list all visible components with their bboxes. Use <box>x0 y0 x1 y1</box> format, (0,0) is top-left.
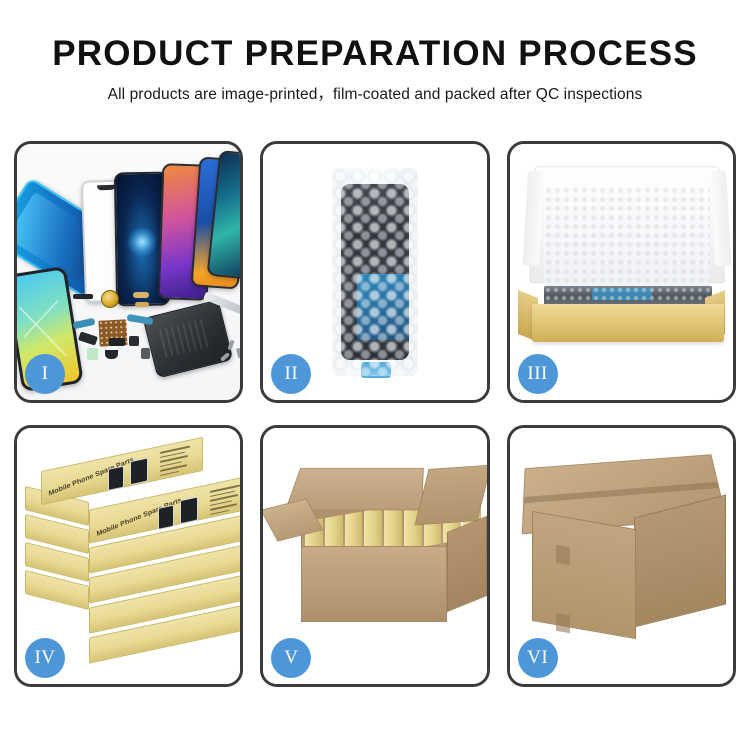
small-component-part <box>109 338 125 346</box>
process-steps-grid: I II <box>14 141 736 687</box>
battery-connector-part <box>87 348 98 360</box>
small-component-part <box>105 350 118 359</box>
carton-flap-right <box>415 465 487 526</box>
box-phone-graphic <box>108 466 124 491</box>
screw-part <box>236 348 240 359</box>
page-subtitle: All products are image-printed，film-coat… <box>0 82 750 104</box>
step-badge-1: I <box>25 354 65 394</box>
step-panel-4: Mobile Phone Spare Parts Mobile Phone Sp… <box>14 425 243 687</box>
carton-tape-mark <box>556 545 570 565</box>
small-component-part <box>141 348 150 359</box>
sealed-carton-right <box>634 495 726 628</box>
box-phone-graphic <box>180 496 198 524</box>
step-panel-1: I <box>14 141 243 403</box>
box-phone-graphic <box>158 505 174 530</box>
flex-cable-part <box>73 294 93 299</box>
step-badge-6: VI <box>518 638 558 678</box>
box-stack: Mobile Phone Spare Parts Mobile Phone Sp… <box>23 454 240 634</box>
carton-tape-mark <box>556 613 570 633</box>
flex-cable-part <box>133 292 149 298</box>
flex-cable-part <box>135 302 149 307</box>
carton-right-side <box>447 516 486 612</box>
product-preparation-infographic: PRODUCT PREPARATION PROCESS All products… <box>0 0 750 750</box>
step-badge-4: IV <box>25 638 65 678</box>
bubble-wrapped-package <box>332 168 418 376</box>
small-component-part <box>78 331 98 345</box>
step-panel-3: III <box>507 141 736 403</box>
speaker-coil-part <box>101 290 119 308</box>
bubble-wrap-texture <box>332 168 418 376</box>
item-blue-label <box>592 288 652 300</box>
box-phone-graphic <box>130 457 148 485</box>
page-title: PRODUCT PREPARATION PROCESS <box>0 36 750 73</box>
step-panel-6: VI <box>507 425 736 687</box>
sealed-carton-front <box>532 511 636 639</box>
box-spec-lines <box>210 483 240 518</box>
carton-front <box>301 546 447 622</box>
foam-liner <box>544 186 710 290</box>
step-panel-5: V <box>260 425 489 687</box>
flex-cable-part <box>73 318 96 329</box>
step-panel-2: II <box>260 141 489 403</box>
box-spec-lines <box>160 444 198 479</box>
small-component-part <box>129 336 139 346</box>
step-badge-3: III <box>518 354 558 394</box>
mailer-box-front-wall <box>532 304 724 342</box>
header: PRODUCT PREPARATION PROCESS All products… <box>0 0 750 104</box>
phone-back-housing <box>143 299 234 378</box>
